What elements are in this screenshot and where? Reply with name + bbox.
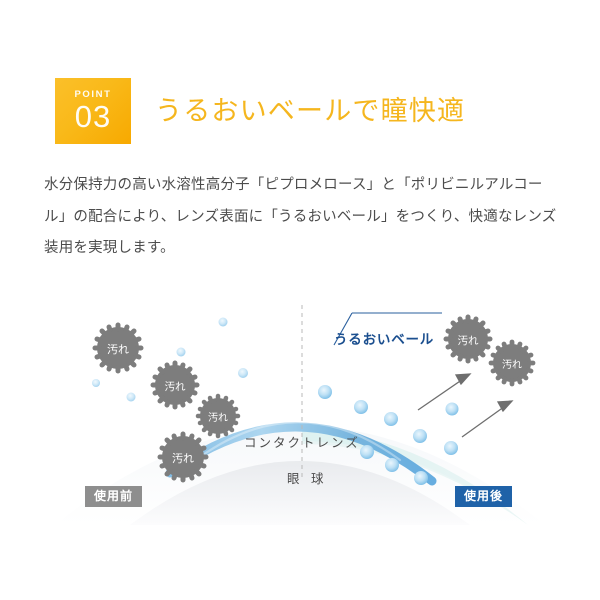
dirt-badge: 汚れ <box>95 325 141 371</box>
before-use-badge: 使用前 <box>85 486 142 507</box>
dirt-cluster-after: 汚れ 汚れ <box>446 317 533 384</box>
svg-text:汚れ: 汚れ <box>172 452 194 465</box>
point-badge-word: POINT <box>74 90 111 100</box>
body-paragraph: 水分保持力の高い水溶性高分子「ピプロメロース」と「ポリビニルアルコール」の配合に… <box>44 170 564 265</box>
dirt-badge: 汚れ <box>160 434 206 480</box>
point-header: POINT 03 うるおいベールで瞳快適 <box>55 78 465 144</box>
svg-text:汚れ: 汚れ <box>165 380 186 393</box>
veil-label: うるおいベール <box>334 328 434 348</box>
contact-lens-label: コンタクトレンズ <box>244 432 360 451</box>
dirt-badge: 汚れ <box>153 363 197 407</box>
dirt-badge: 汚れ <box>198 396 238 436</box>
svg-text:汚れ: 汚れ <box>208 411 228 424</box>
point-badge-number: 03 <box>75 101 111 132</box>
dirt-badge: 汚れ <box>491 342 533 384</box>
after-use-badge: 使用後 <box>455 486 512 507</box>
eyeball-label: 眼 球 <box>287 468 327 487</box>
page-title: うるおいベールで瞳快適 <box>155 98 465 125</box>
dirt-badge: 汚れ <box>446 317 490 361</box>
svg-text:汚れ: 汚れ <box>458 334 479 347</box>
svg-text:汚れ: 汚れ <box>502 358 522 371</box>
repel-arrows <box>418 374 512 437</box>
svg-text:汚れ: 汚れ <box>107 343 129 356</box>
point-badge: POINT 03 <box>55 78 131 144</box>
